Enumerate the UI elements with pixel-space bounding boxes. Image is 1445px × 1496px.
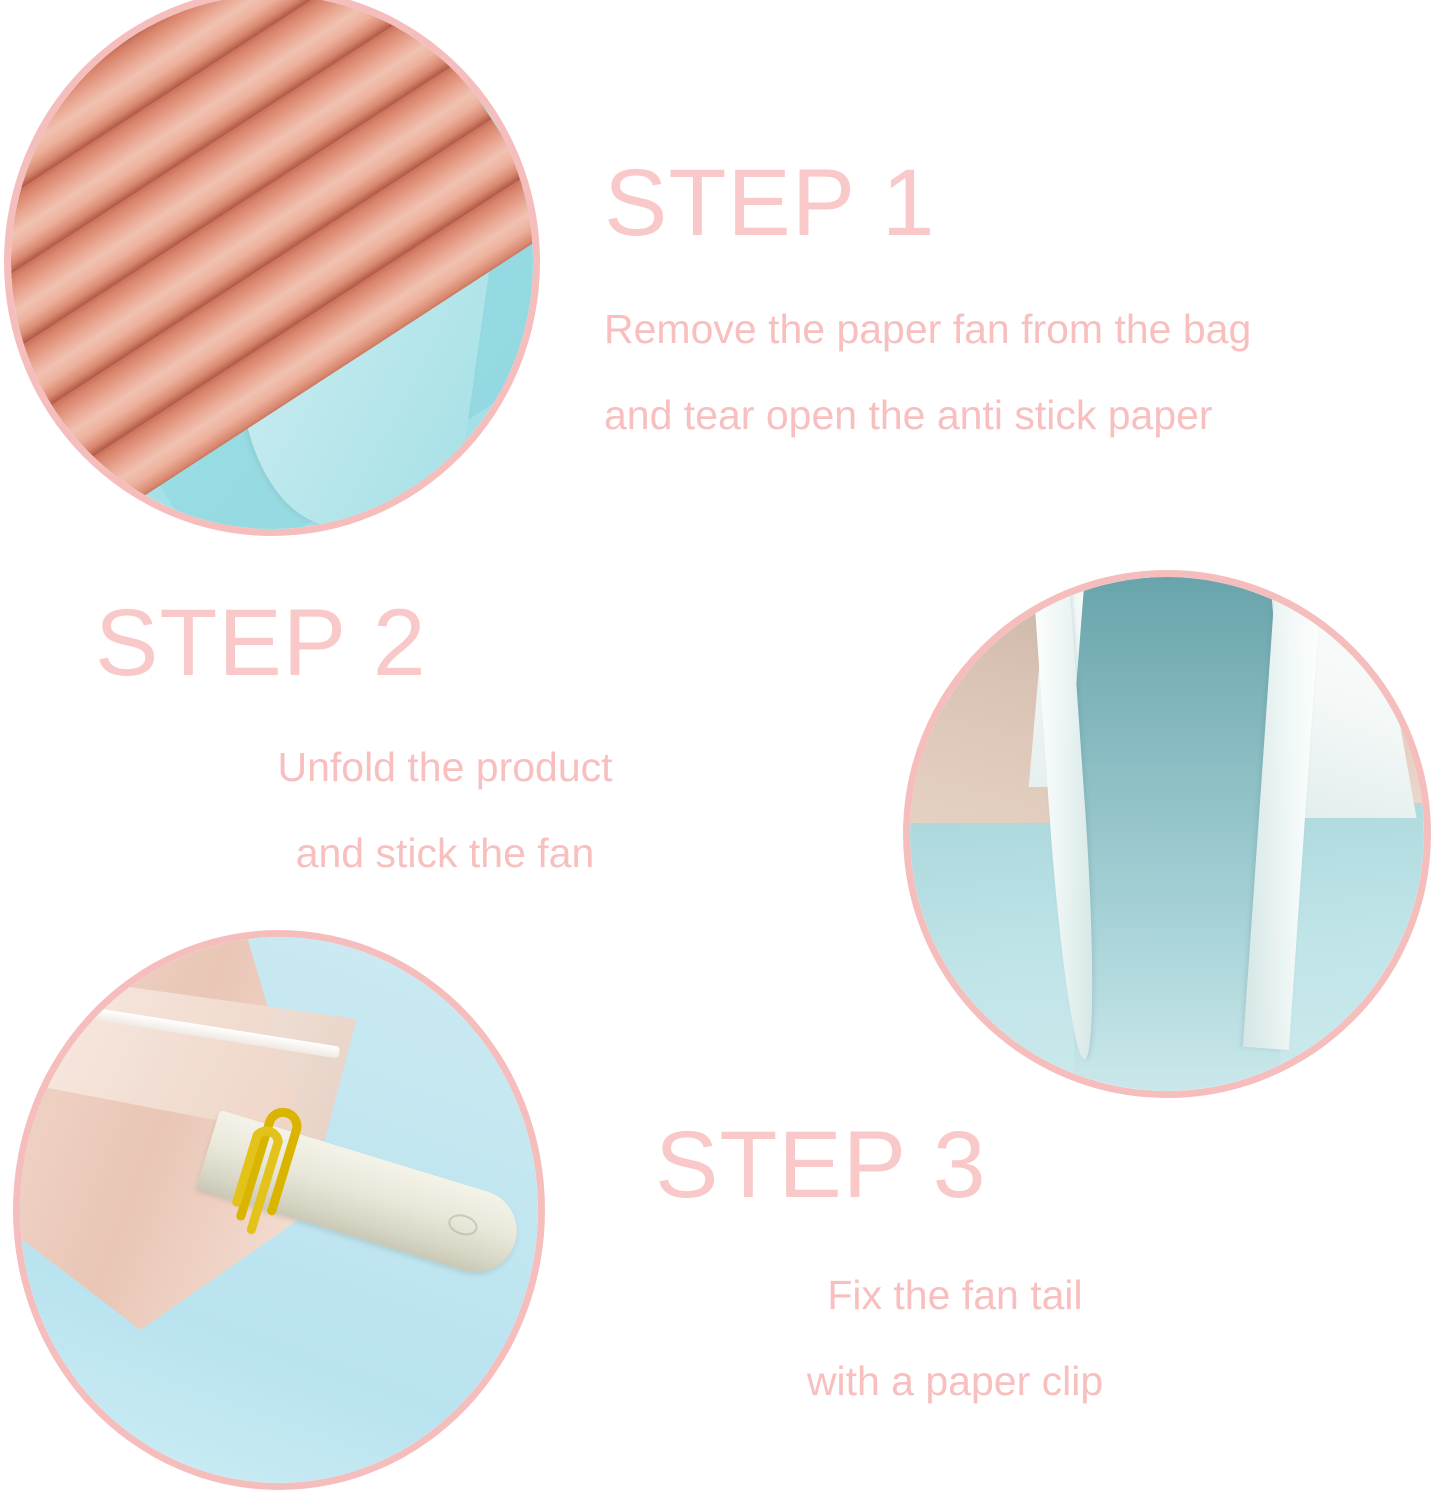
step-1-description-line-2: and tear open the anti stick paper	[604, 395, 1251, 436]
photo-clip-mask	[910, 577, 1424, 1091]
step-3-text-block: STEP 3 Fix the fan tail with a paper cli…	[655, 1118, 1255, 1402]
photo-clip-mask	[11, 0, 533, 529]
paper-clip-fan-tail-photo	[13, 930, 545, 1490]
step-3-heading: STEP 3	[655, 1118, 1255, 1213]
step-1-text-block: STEP 1 Remove the paper fan from the bag…	[604, 156, 1251, 436]
instruction-poster: STEP 1 Remove the paper fan from the bag…	[0, 0, 1445, 1496]
fan-tail-button	[445, 1212, 480, 1240]
photo-clip-mask	[20, 937, 538, 1483]
step-1-description-line-1: Remove the paper fan from the bag	[604, 309, 1251, 350]
folded-pink-paper-fan-photo	[4, 0, 540, 536]
step-3-description-line-1: Fix the fan tail	[655, 1275, 1255, 1316]
step-2-text-block: STEP 2 Unfold the product and stick the …	[95, 596, 795, 874]
step-2-description-line-1: Unfold the product	[95, 747, 795, 788]
step-3-description-line-2: with a paper clip	[655, 1361, 1255, 1402]
step-1-heading: STEP 1	[604, 156, 1251, 251]
step-2-description-line-2: and stick the fan	[95, 833, 795, 874]
step-1-description: Remove the paper fan from the bag and te…	[604, 309, 1251, 436]
step-2-description: Unfold the product and stick the fan	[95, 747, 795, 874]
step-3-description: Fix the fan tail with a paper clip	[655, 1275, 1255, 1402]
unfolded-blue-fan-photo	[903, 570, 1431, 1098]
step-2-heading: STEP 2	[95, 596, 795, 691]
